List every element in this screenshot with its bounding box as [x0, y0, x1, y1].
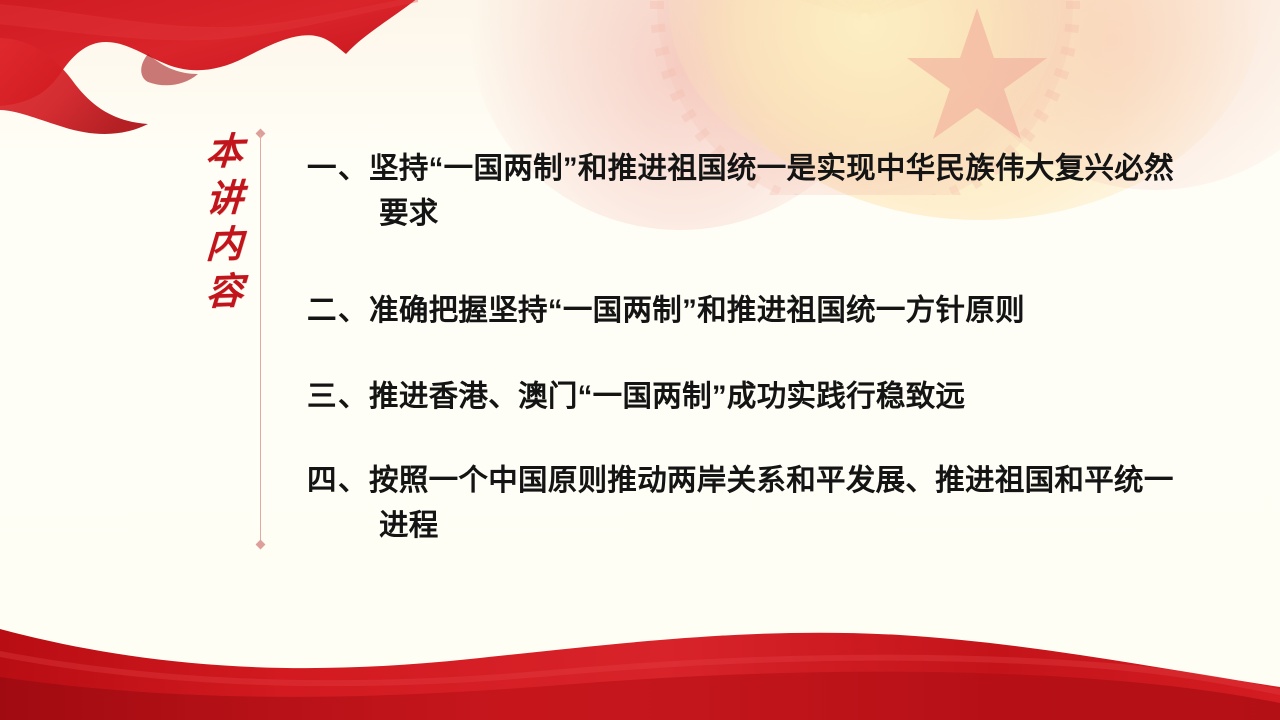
- outline-item-2-text: 准确把握坚持“一国两制”和推进祖国统一方针原则: [369, 294, 1025, 327]
- vertical-section-title: 本 讲 内 容: [196, 133, 252, 311]
- outline-item-2[interactable]: 二、准确把握坚持“一国两制”和推进祖国统一方针原则: [307, 288, 1187, 333]
- outline-item-4-text: 按照一个中国原则推动两岸关系和平发展、推进祖国和平统一进程: [369, 464, 1174, 542]
- outline-item-1-number: 一、: [307, 152, 369, 185]
- vertical-title-char-4: 容: [204, 273, 243, 312]
- divider-diamond-bottom-icon: [256, 540, 266, 550]
- divider-line: [260, 134, 261, 544]
- outline-item-4[interactable]: 四、按照一个中国原则推动两岸关系和平发展、推进祖国和平统一进程: [307, 458, 1187, 548]
- outline-list: 一、坚持“一国两制”和推进祖国统一是实现中华民族伟大复兴必然要求 二、准确把握坚…: [307, 146, 1187, 548]
- vertical-divider: [259, 128, 262, 550]
- vertical-title-char-2: 讲: [204, 179, 243, 218]
- outline-item-4-number: 四、: [307, 464, 369, 497]
- outline-item-1[interactable]: 一、坚持“一国两制”和推进祖国统一是实现中华民族伟大复兴必然要求: [307, 146, 1187, 236]
- vertical-title-char-3: 内: [204, 226, 243, 265]
- outline-item-2-number: 二、: [307, 294, 369, 327]
- presentation-slide: 本 讲 内 容 一、坚持“一国两制”和推进祖国统一是实现中华民族伟大复兴必然要求…: [0, 0, 1280, 720]
- slide-content: 本 讲 内 容 一、坚持“一国两制”和推进祖国统一是实现中华民族伟大复兴必然要求…: [0, 0, 1280, 720]
- outline-item-3[interactable]: 三、推进香港、澳门“一国两制”成功实践行稳致远: [307, 374, 1187, 419]
- outline-item-1-text: 坚持“一国两制”和推进祖国统一是实现中华民族伟大复兴必然要求: [369, 152, 1174, 230]
- outline-item-3-text: 推进香港、澳门“一国两制”成功实践行稳致远: [369, 380, 965, 413]
- vertical-title-char-1: 本: [204, 132, 243, 171]
- outline-item-3-number: 三、: [307, 380, 369, 413]
